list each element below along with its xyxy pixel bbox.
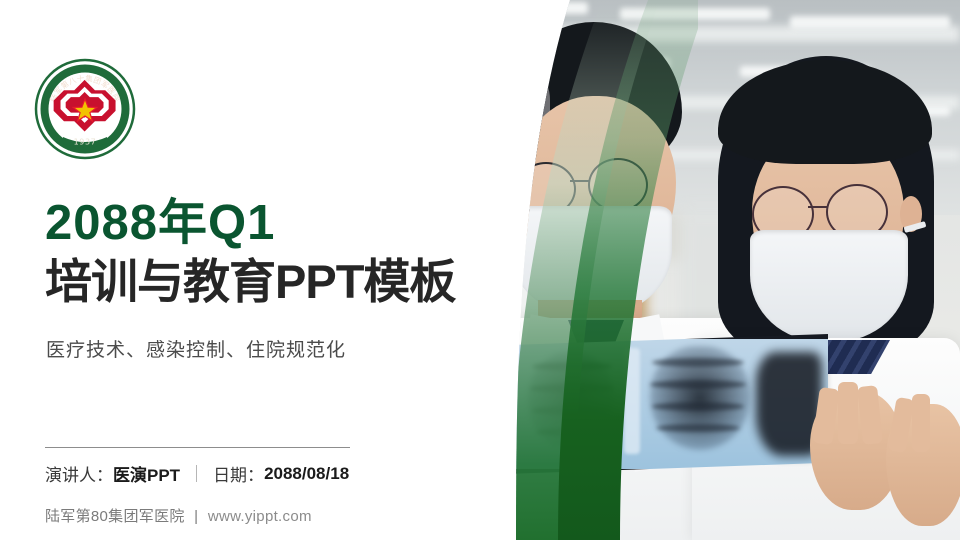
title-block: 2088年Q1 培训与教育PPT模板 xyxy=(45,198,515,308)
hospital-emblem-icon: 陆军第八十集团军医院 1937 xyxy=(33,57,137,161)
meta-separator xyxy=(196,465,197,482)
xray-rib xyxy=(656,424,740,432)
presenter-label: 演讲人： xyxy=(45,461,113,486)
presenter-value: 医演PPT xyxy=(113,461,180,486)
title-main: 培训与教育PPT模板 xyxy=(45,256,515,308)
date-label: 日期： xyxy=(213,461,264,486)
xray-rib xyxy=(650,380,746,389)
date-value: 2088/08/18 xyxy=(264,464,349,484)
footer-organization: 陆军第80集团军医院 xyxy=(45,508,185,525)
title-year: 2088年Q1 xyxy=(45,198,515,250)
xray-rib xyxy=(652,358,744,367)
glasses-icon xyxy=(446,150,484,184)
subtitle: 医疗技术、感染控制、住院规范化 xyxy=(46,335,346,362)
presentation-slide: 陆军第八十集团军医院 1937 2088年Q1 培训与教育PPT模板 医疗技术、… xyxy=(0,0,960,540)
meta-line: 演讲人： 医演PPT 日期： 2088/08/18 xyxy=(45,461,349,486)
ceiling-light xyxy=(790,16,950,29)
title-column: 陆军第八十集团军医院 1937 2088年Q1 培训与教育PPT模板 医疗技术、… xyxy=(0,0,430,540)
footer-divider: | xyxy=(194,508,198,525)
footer-website[interactable]: www.yippt.com xyxy=(208,508,312,525)
ceiling-light xyxy=(468,2,588,14)
xray-rib xyxy=(652,402,744,411)
divider-line xyxy=(45,447,350,448)
footer: 陆军第80集团军医院 | www.yippt.com xyxy=(45,505,312,526)
glasses-bridge-icon xyxy=(808,206,828,208)
logo-year: 1937 xyxy=(74,138,97,147)
hospital-logo: 陆军第八十集团军医院 1937 xyxy=(33,57,137,161)
